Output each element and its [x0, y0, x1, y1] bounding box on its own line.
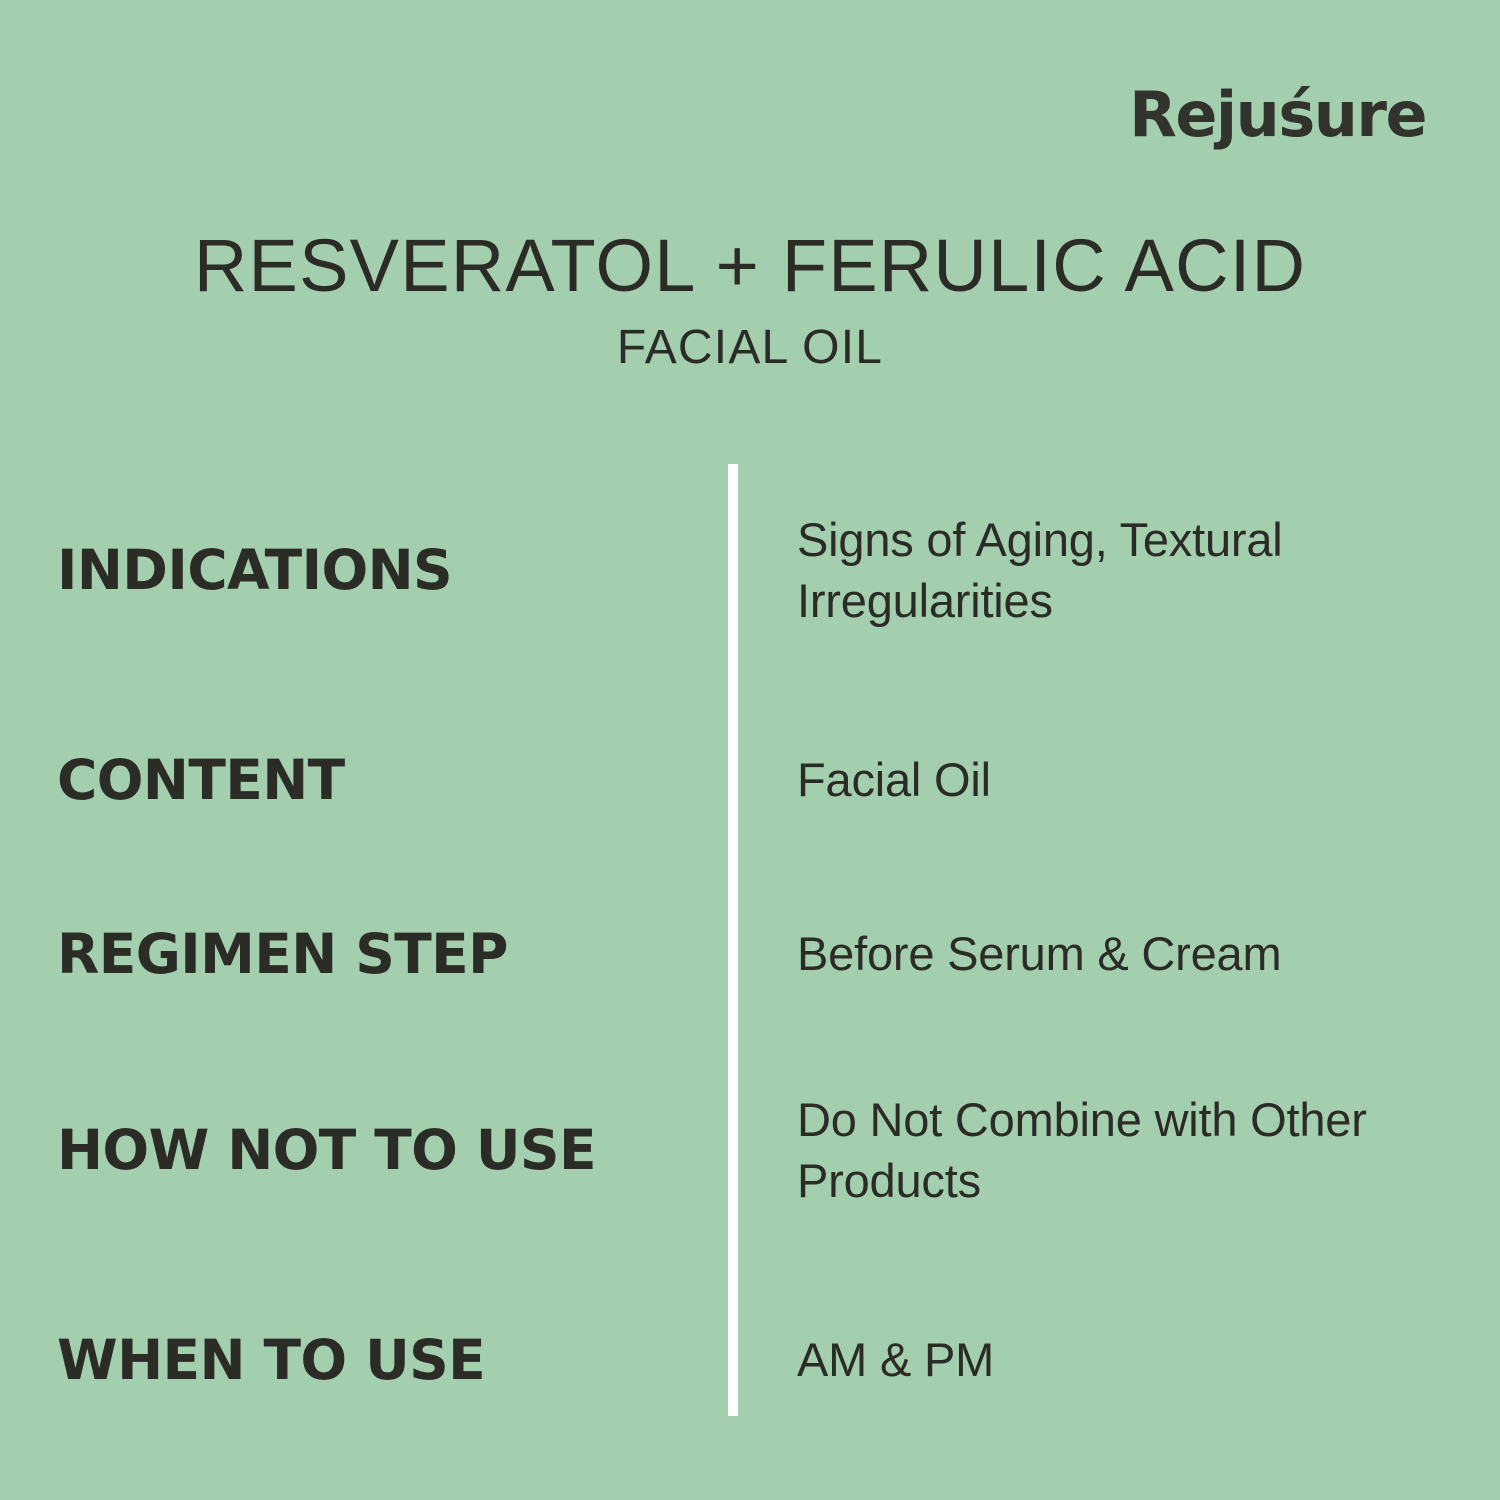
spec-label: REGIMEN STEP: [0, 925, 728, 983]
spec-value: Do Not Combine with Other Products: [728, 1089, 1500, 1211]
spec-label: WHEN TO USE: [0, 1331, 728, 1389]
spec-row-how-not-to-use: HOW NOT TO USE Do Not Combine with Other…: [0, 1060, 1500, 1240]
product-info-card: Rejuśure RESVERATOL + FERULIC ACID FACIA…: [0, 0, 1500, 1500]
spec-row-regimen-step: REGIMEN STEP Before Serum & Cream: [0, 884, 1500, 1024]
title-block: RESVERATOL + FERULIC ACID FACIAL OIL: [0, 228, 1500, 372]
page-title: RESVERATOL + FERULIC ACID: [0, 228, 1500, 303]
spec-value: Signs of Aging, Textural Irregularities: [728, 509, 1500, 631]
spec-row-content: CONTENT Facial Oil: [0, 710, 1500, 850]
spec-value: AM & PM: [728, 1329, 1500, 1390]
spec-value: Before Serum & Cream: [728, 923, 1500, 984]
spec-label: INDICATIONS: [0, 541, 728, 599]
spec-table: INDICATIONS Signs of Aging, Textural Irr…: [0, 464, 1500, 1416]
spec-label: HOW NOT TO USE: [0, 1121, 728, 1179]
brand-logo: Rejuśure: [1129, 84, 1426, 146]
spec-row-when-to-use: WHEN TO USE AM & PM: [0, 1290, 1500, 1430]
spec-label: CONTENT: [0, 751, 728, 809]
page-subtitle: FACIAL OIL: [0, 324, 1500, 372]
spec-value: Facial Oil: [728, 749, 1500, 810]
spec-row-indications: INDICATIONS Signs of Aging, Textural Irr…: [0, 480, 1500, 660]
